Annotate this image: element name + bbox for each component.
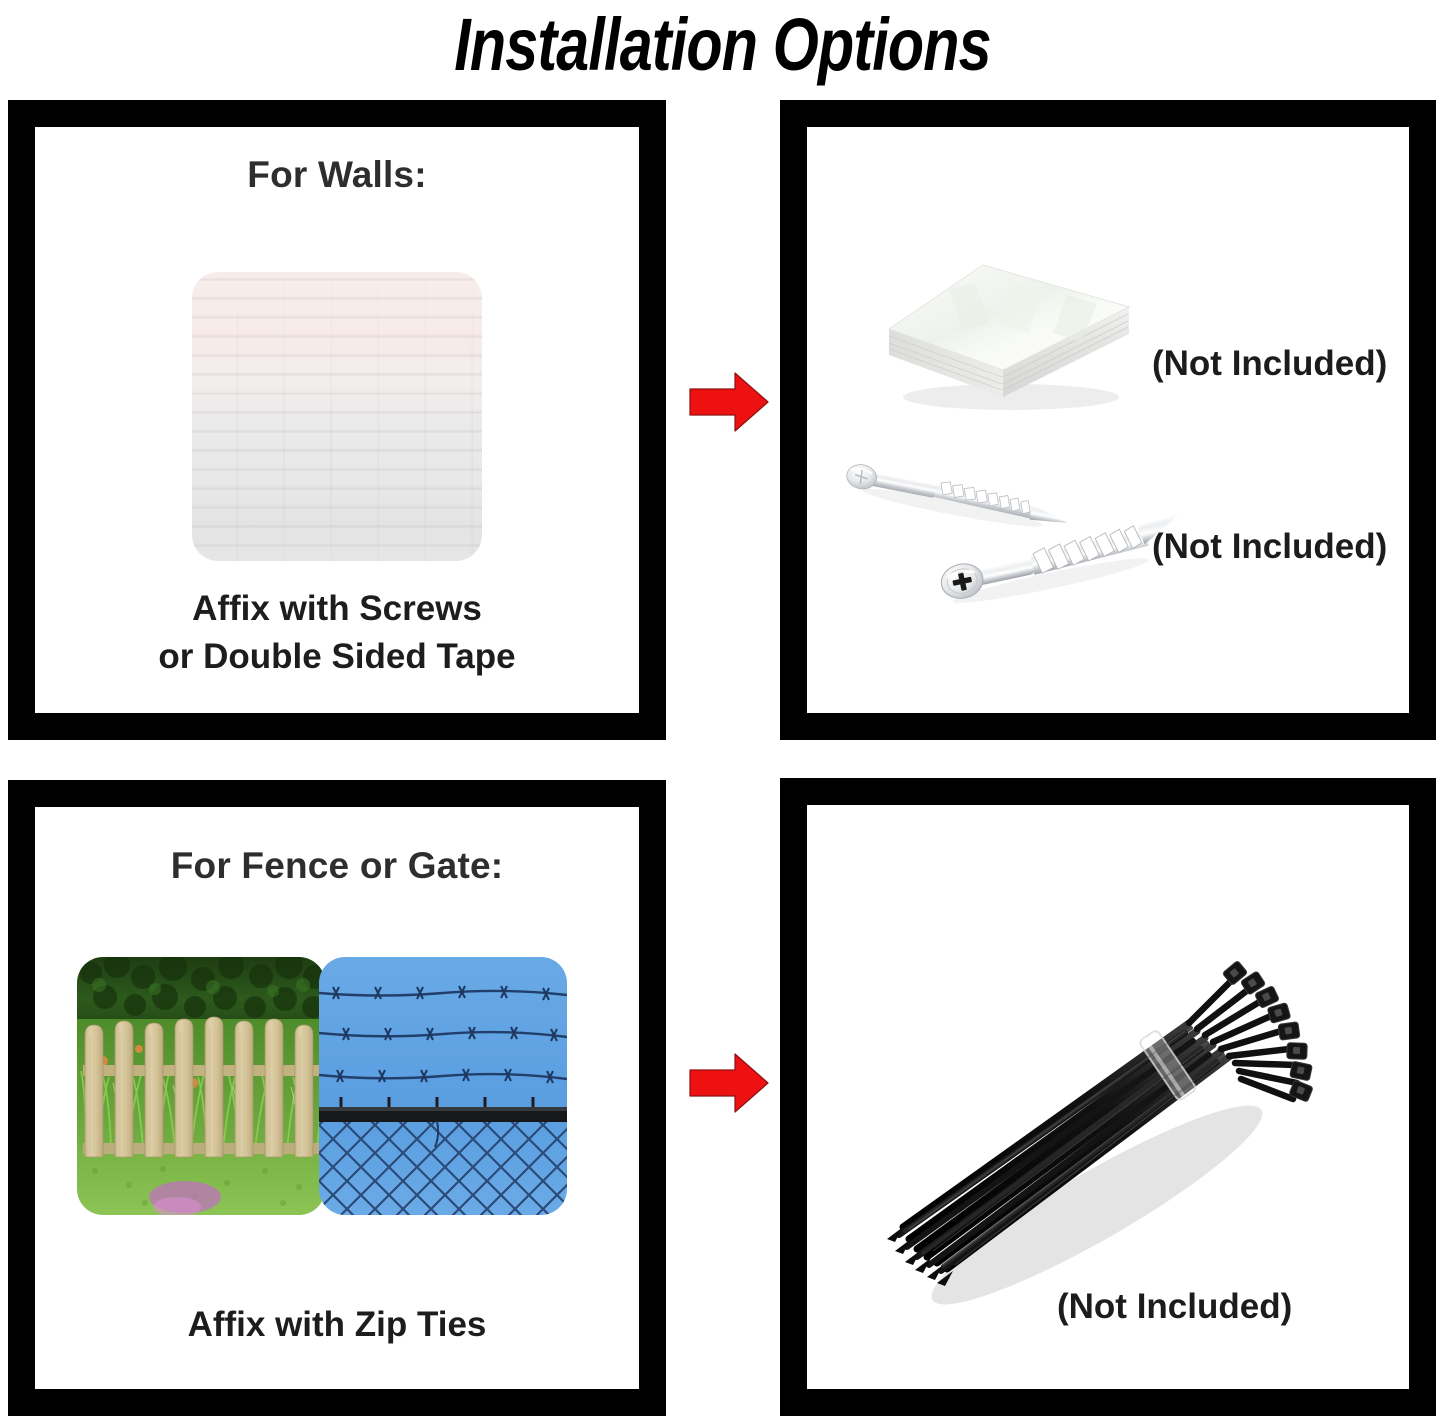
barbed-wire-chain-link-fence-photo bbox=[319, 957, 567, 1215]
black-zip-ties-bundle-photo bbox=[837, 905, 1357, 1305]
for-walls-caption-line2: or Double Sided Tape bbox=[35, 633, 639, 681]
panel-for-fence-or-gate: For Fence or Gate: bbox=[8, 780, 666, 1416]
wooden-picket-fence-photo bbox=[77, 957, 325, 1215]
panel-fence-hardware: (Not Included) bbox=[780, 778, 1436, 1416]
for-fence-caption: Affix with Zip Ties bbox=[35, 1301, 639, 1349]
for-walls-caption-line1: Affix with Screws bbox=[35, 585, 639, 633]
tape-not-included-label: (Not Included) bbox=[1152, 344, 1387, 384]
panel-for-walls-content: For Walls: Affix with Screws or Double S… bbox=[35, 127, 639, 713]
infographic-root: Installation Options For Walls: Affix wi… bbox=[0, 0, 1445, 1422]
screws-not-included-label: (Not Included) bbox=[1152, 527, 1387, 567]
for-walls-caption: Affix with Screws or Double Sided Tape bbox=[35, 585, 639, 681]
for-walls-heading: For Walls: bbox=[35, 154, 639, 196]
panel-wall-hardware-content: (Not Included) bbox=[807, 127, 1409, 713]
white-brick-wall-photo bbox=[192, 272, 482, 561]
red-right-arrow-icon-walls bbox=[688, 371, 770, 433]
double-sided-tape-stack-photo bbox=[871, 237, 1141, 417]
silver-wood-screws-photo bbox=[829, 447, 1189, 637]
ziptie-not-included-label: (Not Included) bbox=[1057, 1287, 1292, 1327]
page-title: Installation Options bbox=[145, 2, 1301, 88]
panel-for-walls: For Walls: Affix with Screws or Double S… bbox=[8, 100, 666, 740]
panel-fence-hardware-content: (Not Included) bbox=[807, 805, 1409, 1389]
panel-wall-hardware: (Not Included) bbox=[780, 100, 1436, 740]
red-right-arrow-icon-fence bbox=[688, 1052, 770, 1114]
panel-for-fence-content: For Fence or Gate: bbox=[35, 807, 639, 1389]
for-fence-heading: For Fence or Gate: bbox=[35, 845, 639, 887]
